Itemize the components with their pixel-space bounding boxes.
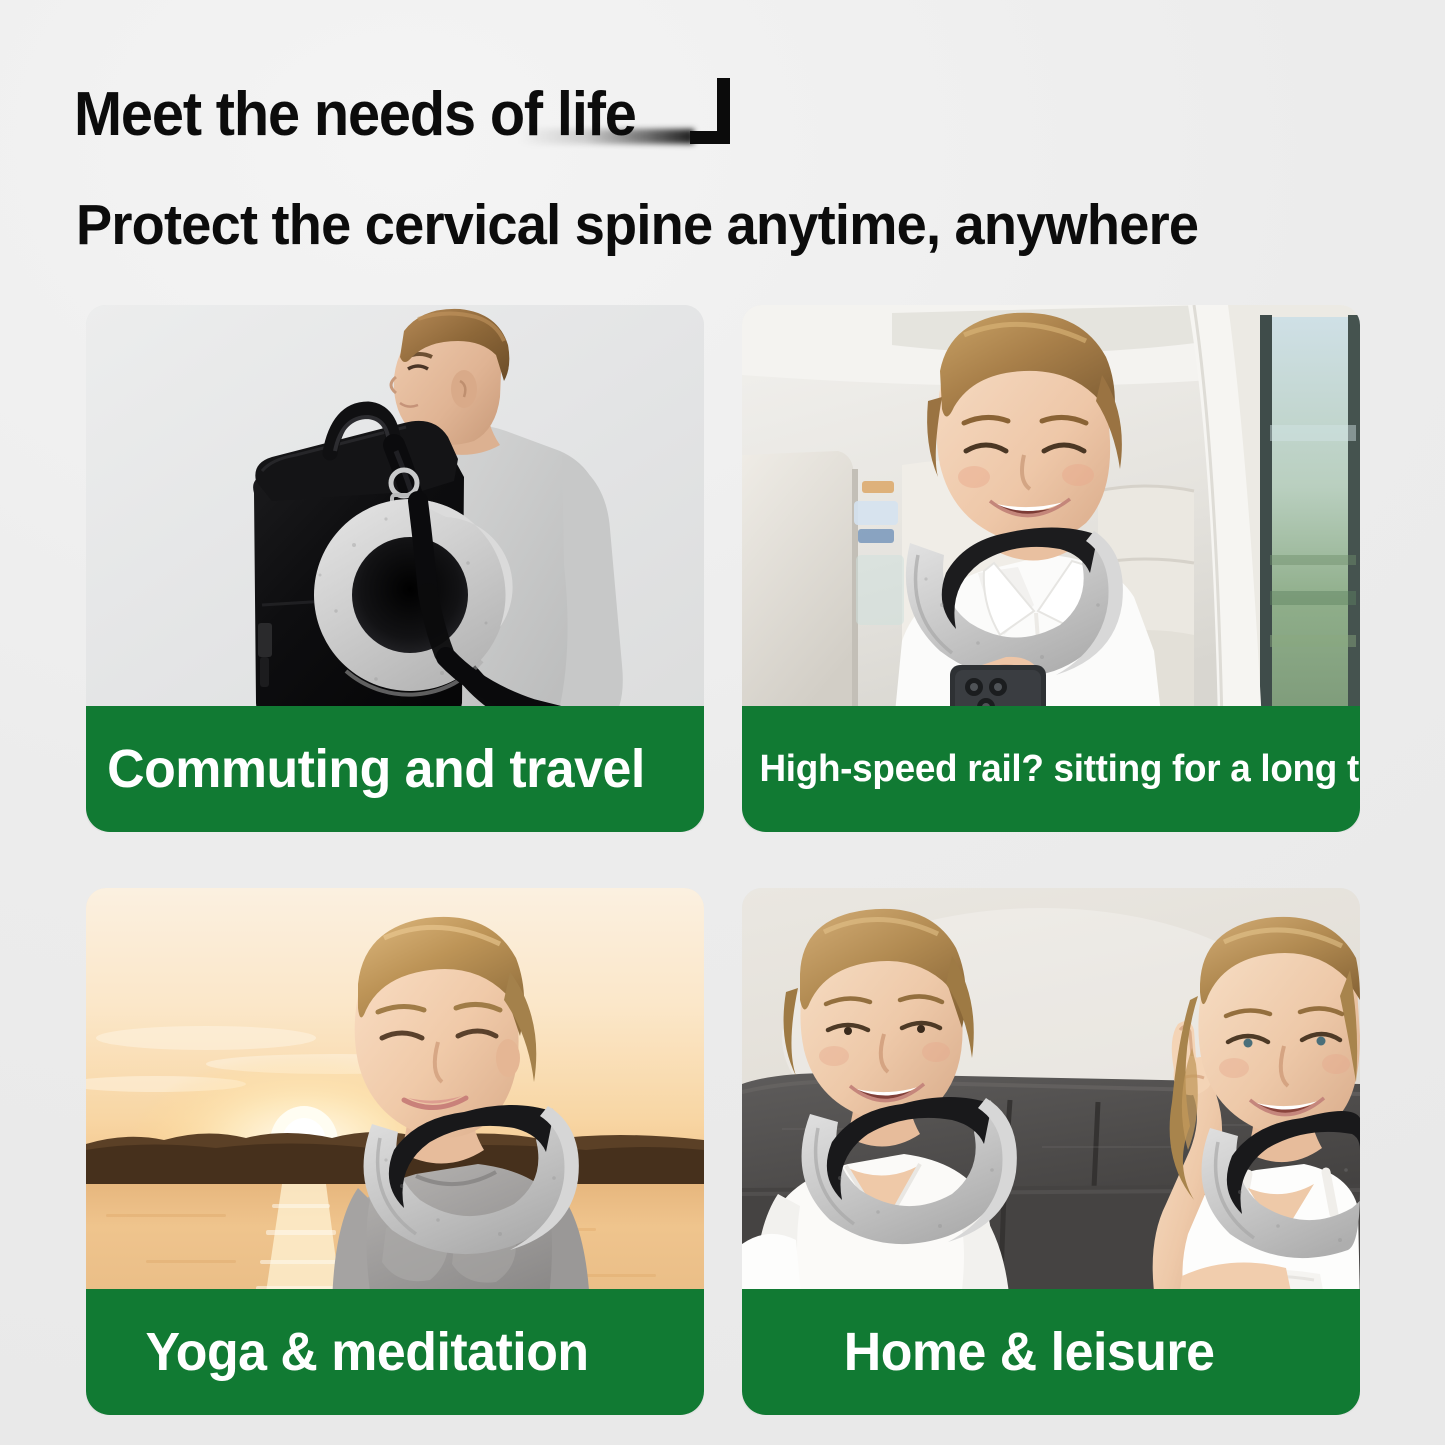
scenario-card-commuting[interactable]: Commuting and travel	[86, 305, 704, 832]
photo-woman-on-train	[742, 305, 1360, 723]
scenario-card-yoga[interactable]: Yoga & meditation	[86, 888, 704, 1415]
caption-label: Commuting and travel	[86, 742, 645, 796]
caption-label: Home & leisure	[742, 1325, 1214, 1379]
photo-two-women-on-sofa	[742, 888, 1360, 1306]
caption-bar-home-leisure: Home & leisure	[742, 1289, 1360, 1415]
photo-man-with-backpack	[86, 305, 704, 723]
caption-label: Yoga & meditation	[86, 1325, 589, 1379]
corner-bracket-icon	[688, 78, 730, 144]
caption-bar-yoga: Yoga & meditation	[86, 1289, 704, 1415]
caption-bar-high-speed-rail: High-speed rail? sitting for a long time	[742, 706, 1360, 832]
scenario-card-high-speed-rail[interactable]: High-speed rail? sitting for a long time	[742, 305, 1360, 832]
photo-woman-meditating-sunset	[86, 888, 704, 1306]
scenario-card-grid: Commuting and travel	[86, 305, 1360, 1415]
infographic-page: Meet the needs of life Protect the cervi…	[0, 0, 1445, 1445]
caption-bar-commuting: Commuting and travel	[86, 706, 704, 832]
scenario-card-home-leisure[interactable]: Home & leisure	[742, 888, 1360, 1415]
caption-label: High-speed rail? sitting for a long time	[742, 750, 1360, 788]
header: Meet the needs of life Protect the cervi…	[0, 0, 1445, 300]
page-subtitle: Protect the cervical spine anytime, anyw…	[76, 197, 1198, 254]
title-row: Meet the needs of life	[74, 78, 730, 146]
